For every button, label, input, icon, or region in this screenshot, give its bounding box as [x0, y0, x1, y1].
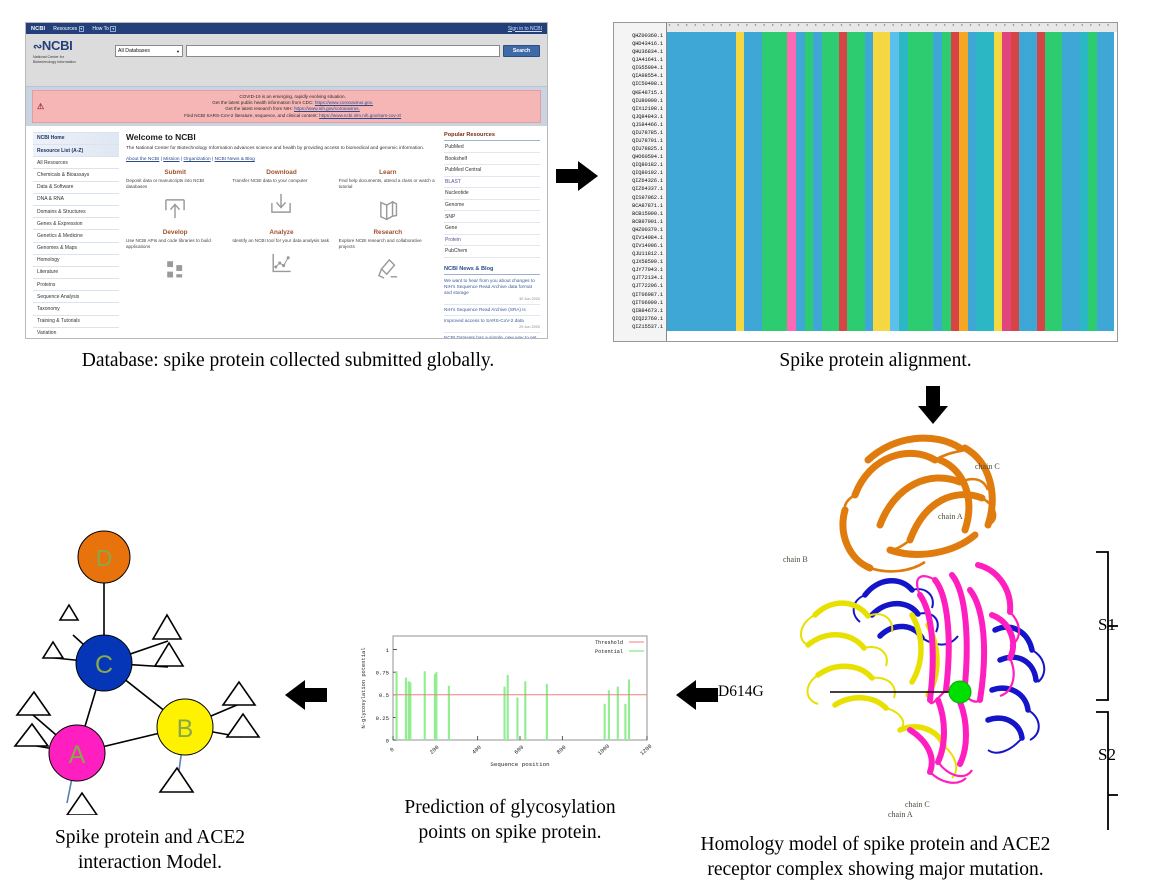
- residue-cell: [727, 153, 736, 161]
- residue-cell: [1037, 145, 1046, 153]
- residue-cell: [847, 282, 856, 290]
- residue-cell: [813, 72, 822, 80]
- residue-cell: [1028, 48, 1037, 56]
- accession-id[interactable]: QHU36834.1: [614, 48, 666, 56]
- residue-cell: [1105, 250, 1114, 258]
- sidebar-item-genetics-medicine[interactable]: Genetics & Medicine: [33, 230, 119, 242]
- resource-link-gene[interactable]: Gene: [444, 223, 540, 235]
- sign-in-link[interactable]: Sign in to NCBI: [508, 26, 542, 32]
- ruler-tick: *: [780, 24, 783, 30]
- residue-cell: [684, 250, 693, 258]
- accession-id[interactable]: BCB97901.1: [614, 218, 666, 226]
- resource-link-blast[interactable]: BLAST: [444, 177, 540, 189]
- ncbi-masthead: ∾NCBI National Center forBiotechnology I…: [26, 34, 547, 87]
- residue-cell: [1080, 282, 1089, 290]
- triangle-icon: [60, 605, 78, 620]
- residue-cell: [719, 258, 728, 266]
- residue-cell: [736, 202, 745, 210]
- accession-id[interactable]: QIQ22760.1: [614, 315, 666, 323]
- residue-cell: [856, 177, 865, 185]
- sidebar-item-literature[interactable]: Literature: [33, 267, 119, 279]
- cdc-link[interactable]: https://www.coronavirus.gov.: [315, 100, 373, 105]
- residue-cell: [1037, 258, 1046, 266]
- residue-cell: [985, 121, 994, 129]
- accession-id[interactable]: QHO60594.1: [614, 153, 666, 161]
- residue-cell: [968, 234, 977, 242]
- residue-cell: [908, 307, 917, 315]
- residue-cell: [925, 97, 934, 105]
- residue-cell: [916, 299, 925, 307]
- residue-cell: [968, 323, 977, 331]
- residue-cell: [787, 274, 796, 282]
- residue-cell: [1045, 202, 1054, 210]
- accession-id[interactable]: QIT06999.1: [614, 299, 666, 307]
- residue-cell: [736, 226, 745, 234]
- residue-cell: [1037, 323, 1046, 331]
- residue-cell: [684, 137, 693, 145]
- accession-id[interactable]: QHZ00369.1: [614, 32, 666, 40]
- residue-cell: [736, 40, 745, 48]
- residue-cell: [1105, 266, 1114, 274]
- sidebar-item-dna-rna[interactable]: DNA & RNA: [33, 194, 119, 206]
- residue-cell: [951, 194, 960, 202]
- sidebar-item-variation[interactable]: Variation: [33, 328, 119, 339]
- residue-cell: [1037, 282, 1046, 290]
- residue-cell: [856, 161, 865, 169]
- tile-research[interactable]: ResearchExplore NCBI research and collab…: [339, 229, 437, 284]
- residue-cell: [1080, 80, 1089, 88]
- sidebar-item-domains-structures[interactable]: Domains & Structures: [33, 206, 119, 218]
- residue-cell: [693, 242, 702, 250]
- residue-cell: [1088, 250, 1097, 258]
- accession-id[interactable]: QHZ00379.1: [614, 226, 666, 234]
- residue-cell: [925, 234, 934, 242]
- residue-cell: [667, 210, 676, 218]
- residue-cell: [727, 226, 736, 234]
- residue-cell: [968, 56, 977, 64]
- residue-cell: [1019, 210, 1028, 218]
- accession-id[interactable]: QIV14996.1: [614, 242, 666, 250]
- residue-cell: [890, 234, 899, 242]
- residue-cell: [744, 121, 753, 129]
- accession-id[interactable]: QIU80900.1: [614, 97, 666, 105]
- residue-cell: [1019, 161, 1028, 169]
- residue-cell: [1019, 226, 1028, 234]
- residue-cell: [890, 137, 899, 145]
- residue-cell: [1054, 202, 1063, 210]
- menu-how-to[interactable]: How To ▾: [92, 26, 116, 32]
- residue-cell: [865, 323, 874, 331]
- accession-id[interactable]: QIV14984.1: [614, 234, 666, 242]
- sidebar-item-training-tutorials[interactable]: Training & Tutorials: [33, 316, 119, 328]
- residue-cell: [847, 72, 856, 80]
- residue-cell: [933, 323, 942, 331]
- residue-cell: [882, 40, 891, 48]
- accession-id[interactable]: QJA41641.1: [614, 56, 666, 64]
- accession-id[interactable]: QJT72206.1: [614, 282, 666, 290]
- sars-cov-2-link[interactable]: https://www.ncbi.nlm.nih.gov/sars-cov-2/: [319, 113, 401, 118]
- residue-cell: [847, 250, 856, 258]
- residue-cell: [1011, 137, 1020, 145]
- residue-cell: [847, 202, 856, 210]
- accession-id[interactable]: QHD43416.1: [614, 40, 666, 48]
- residue-cell: [830, 274, 839, 282]
- residue-cell: [890, 72, 899, 80]
- residue-cell: [933, 234, 942, 242]
- residue-cell: [865, 137, 874, 145]
- ruler-tick: *: [1055, 24, 1058, 30]
- tile-submit[interactable]: SubmitDeposit data or manuscripts into N…: [126, 169, 224, 224]
- residue-cell: [856, 315, 865, 323]
- residue-cell: [856, 64, 865, 72]
- residue-cell: [693, 226, 702, 234]
- residue-cell: [1071, 113, 1080, 121]
- residue-cell: [916, 291, 925, 299]
- residue-cell: [822, 323, 831, 331]
- accession-id[interactable]: QIT06987.1: [614, 291, 666, 299]
- sidebar-item-sequence-analysis[interactable]: Sequence Analysis: [33, 291, 119, 303]
- ncbi-brand-block[interactable]: ∾NCBI National Center forBiotechnology I…: [33, 39, 115, 64]
- residue-cell: [830, 242, 839, 250]
- residue-cell: [942, 266, 951, 274]
- residue-cell: [865, 185, 874, 193]
- residue-cell: [822, 97, 831, 105]
- alignment-row: [667, 202, 1117, 210]
- residue-cell: [796, 153, 805, 161]
- residue-cell: [822, 266, 831, 274]
- residue-cell: [710, 80, 719, 88]
- accession-id[interactable]: QIA98554.1: [614, 72, 666, 80]
- sidebar-item-proteins[interactable]: Proteins: [33, 279, 119, 291]
- resource-link-protein[interactable]: Protein: [444, 235, 540, 247]
- alignment-row: [667, 242, 1117, 250]
- residue-cell: [736, 218, 745, 226]
- resource-link-bookshelf[interactable]: Bookshelf: [444, 153, 540, 165]
- residue-cell: [1062, 113, 1071, 121]
- residue-cell: [951, 226, 960, 234]
- residue-cell: [684, 89, 693, 97]
- residue-cell: [693, 266, 702, 274]
- residue-cell: [676, 234, 685, 242]
- alignment-sequence-area[interactable]: ****************************************…: [667, 23, 1117, 341]
- residue-cell: [1071, 129, 1080, 137]
- accession-id[interactable]: BCB15090.1: [614, 210, 666, 218]
- residue-cell: [1054, 121, 1063, 129]
- news-item[interactable]: NIH's Sequence Read Archive (SRA) is: [444, 307, 540, 316]
- residue-cell: [1062, 250, 1071, 258]
- accession-id[interactable]: QIQ80182.1: [614, 161, 666, 169]
- residue-cell: [727, 185, 736, 193]
- residue-cell: [968, 282, 977, 290]
- residue-cell: [667, 323, 676, 331]
- residue-cell: [968, 64, 977, 72]
- accession-id[interactable]: QJQ84843.1: [614, 113, 666, 121]
- alignment-rows: [667, 32, 1117, 331]
- residue-cell: [865, 89, 874, 97]
- residue-cell: [1062, 129, 1071, 137]
- residue-cell: [822, 40, 831, 48]
- news-item[interactable]: NCBI Datasets has a simple, new way to g…: [444, 335, 540, 339]
- residue-cell: [770, 274, 779, 282]
- accession-id[interactable]: QJU11812.1: [614, 250, 666, 258]
- residue-cell: [813, 80, 822, 88]
- residue-cell: [1080, 218, 1089, 226]
- accession-id[interactable]: QIB84673.1: [614, 307, 666, 315]
- residue-cell: [1002, 282, 1011, 290]
- residue-cell: [822, 64, 831, 72]
- about-link-organization[interactable]: Organization: [183, 157, 210, 162]
- alignment-row: [667, 282, 1117, 290]
- residue-cell: [1045, 185, 1054, 193]
- residue-cell: [701, 48, 710, 56]
- tile-download[interactable]: DownloadTransfer NCBI data to your compu…: [232, 169, 330, 224]
- residue-cell: [744, 105, 753, 113]
- residue-cell: [899, 258, 908, 266]
- alignment-row: [667, 48, 1117, 56]
- residue-cell: [865, 56, 874, 64]
- residue-cell: [1080, 234, 1089, 242]
- residue-cell: [985, 299, 994, 307]
- residue-cell: [942, 89, 951, 97]
- residue-cell: [676, 56, 685, 64]
- residue-cell: [1019, 202, 1028, 210]
- residue-cell: [899, 32, 908, 40]
- residue-cell: [727, 121, 736, 129]
- tile-learn[interactable]: LearnFind help documents, attend a class…: [339, 169, 437, 224]
- residue-cell: [753, 299, 762, 307]
- tile-learn-desc: Find help documents, attend a class or w…: [339, 178, 437, 190]
- residue-cell: [1011, 153, 1020, 161]
- residue-cell: [830, 113, 839, 121]
- sidebar-item-resource-list-a-z[interactable]: Resource List (A-Z): [33, 145, 119, 157]
- accession-id[interactable]: QIU78791.1: [614, 137, 666, 145]
- accession-id[interactable]: QIQ80192.1: [614, 169, 666, 177]
- residue-cell: [667, 32, 676, 40]
- residue-cell: [994, 242, 1003, 250]
- residue-cell: [753, 258, 762, 266]
- residue-cell: [839, 323, 848, 331]
- residue-cell: [908, 129, 917, 137]
- accession-id[interactable]: QKE48715.1: [614, 89, 666, 97]
- residue-cell: [701, 64, 710, 72]
- sidebar-item-all-resources[interactable]: All Resources: [33, 157, 119, 169]
- residue-cell: [693, 282, 702, 290]
- residue-cell: [762, 250, 771, 258]
- search-button[interactable]: Search: [503, 45, 540, 57]
- accession-id[interactable]: QIU78785.1: [614, 129, 666, 137]
- residue-cell: [813, 194, 822, 202]
- residue-cell: [933, 210, 942, 218]
- sidebar-item-chemicals-bioassays[interactable]: Chemicals & Bioassays: [33, 169, 119, 181]
- residue-cell: [1062, 315, 1071, 323]
- residue-cell: [916, 202, 925, 210]
- residue-cell: [908, 202, 917, 210]
- accession-id[interactable]: QJX58599.1: [614, 258, 666, 266]
- sidebar-item-taxonomy[interactable]: Taxonomy: [33, 303, 119, 315]
- accession-id[interactable]: QIZ15537.1: [614, 323, 666, 331]
- accession-id[interactable]: QIU78825.1: [614, 145, 666, 153]
- residue-cell: [1037, 121, 1046, 129]
- tile-develop[interactable]: DevelopUse NCBI APIs and code libraries …: [126, 229, 224, 284]
- about-link-ncbi-news-blog[interactable]: NCBI News & Blog: [215, 157, 255, 162]
- caption-alignment: Spike protein alignment.: [600, 348, 1151, 373]
- residue-cell: [1011, 72, 1020, 80]
- accession-id[interactable]: QIS97062.1: [614, 194, 666, 202]
- residue-cell: [744, 97, 753, 105]
- sidebar-item-ncbi-home[interactable]: NCBI Home: [33, 132, 119, 145]
- residue-cell: [1088, 315, 1097, 323]
- residue-cell: [787, 194, 796, 202]
- residue-cell: [710, 291, 719, 299]
- residue-cell: [1002, 89, 1011, 97]
- residue-cell: [684, 282, 693, 290]
- residue-cell: [710, 250, 719, 258]
- residue-cell: [787, 72, 796, 80]
- residue-cell: [890, 202, 899, 210]
- residue-cell: [1045, 161, 1054, 169]
- residue-cell: [1080, 315, 1089, 323]
- residue-cell: [839, 80, 848, 88]
- resource-link-snp[interactable]: SNP: [444, 211, 540, 223]
- residue-cell: [882, 234, 891, 242]
- mutation-marker-d614g[interactable]: [949, 681, 971, 703]
- about-link-mission[interactable]: Mission: [163, 157, 179, 162]
- residue-cell: [839, 242, 848, 250]
- resource-link-pubmed[interactable]: PubMed: [444, 142, 540, 154]
- residue-cell: [1037, 32, 1046, 40]
- accession-id[interactable]: BCA87871.1: [614, 202, 666, 210]
- search-input[interactable]: [186, 45, 500, 57]
- residue-cell: [762, 315, 771, 323]
- residue-cell: [856, 48, 865, 56]
- residue-cell: [1011, 97, 1020, 105]
- resource-link-nucleotide[interactable]: Nucleotide: [444, 188, 540, 200]
- accession-id[interactable]: QIZ64326.1: [614, 177, 666, 185]
- residue-cell: [1054, 80, 1063, 88]
- resource-link-genome[interactable]: Genome: [444, 200, 540, 212]
- residue-cell: [847, 291, 856, 299]
- news-item[interactable]: We want to hear from you about changes t…: [444, 278, 540, 305]
- residue-cell: [1088, 299, 1097, 307]
- accession-id[interactable]: QJT72134.1: [614, 274, 666, 282]
- residue-cell: [1037, 210, 1046, 218]
- about-link-about-the-ncbi[interactable]: About the NCBI: [126, 157, 159, 162]
- accession-id[interactable]: QJS84466.1: [614, 121, 666, 129]
- residue-cell: [933, 185, 942, 193]
- ruler-tick: *: [771, 24, 774, 30]
- accession-id[interactable]: QIG55994.1: [614, 64, 666, 72]
- residue-cell: [779, 315, 788, 323]
- residue-cell: [976, 161, 985, 169]
- ruler-tick: *: [892, 24, 895, 30]
- residue-cell: [727, 64, 736, 72]
- residue-cell: [667, 282, 676, 290]
- accession-id[interactable]: QJY77043.1: [614, 266, 666, 274]
- nih-link[interactable]: https://www.nih.gov/coronavirus.: [294, 106, 360, 111]
- residue-cell: [1062, 291, 1071, 299]
- residue-cell: [976, 226, 985, 234]
- residue-cell: [890, 121, 899, 129]
- residue-cell: [701, 113, 710, 121]
- residue-cell: [1097, 282, 1106, 290]
- residue-cell: [727, 315, 736, 323]
- residue-cell: [1028, 291, 1037, 299]
- accession-id[interactable]: QIZ64337.1: [614, 185, 666, 193]
- sidebar-item-homology[interactable]: Homology: [33, 255, 119, 267]
- residue-cell: [1054, 274, 1063, 282]
- residue-cell: [882, 299, 891, 307]
- residue-cell: [925, 185, 934, 193]
- residue-cell: [676, 177, 685, 185]
- residue-cell: [968, 121, 977, 129]
- residue-cell: [985, 307, 994, 315]
- residue-cell: [684, 258, 693, 266]
- sidebar-item-genomes-maps[interactable]: Genomes & Maps: [33, 243, 119, 255]
- residue-cell: [753, 56, 762, 64]
- residue-cell: [1028, 169, 1037, 177]
- residue-cell: [1054, 307, 1063, 315]
- residue-cell: [701, 80, 710, 88]
- sidebar-item-genes-expression[interactable]: Genes & Expression: [33, 218, 119, 230]
- accession-id[interactable]: QIX12198.1: [614, 105, 666, 113]
- residue-cell: [727, 274, 736, 282]
- residue-cell: [847, 121, 856, 129]
- residue-cell: [968, 307, 977, 315]
- residue-cell: [916, 274, 925, 282]
- residue-cell: [839, 299, 848, 307]
- residue-cell: [805, 80, 814, 88]
- menu-resources[interactable]: Resources ▾: [53, 26, 84, 32]
- residue-cell: [942, 129, 951, 137]
- residue-cell: [994, 234, 1003, 242]
- residue-cell: [1019, 105, 1028, 113]
- resource-link-pubmed-central[interactable]: PubMed Central: [444, 165, 540, 177]
- residue-cell: [1002, 169, 1011, 177]
- residue-cell: [865, 145, 874, 153]
- residue-cell: [813, 121, 822, 129]
- residue-cell: [908, 291, 917, 299]
- tile-analyze[interactable]: AnalyzeIdentify an NCBI tool for your da…: [232, 229, 330, 284]
- database-select[interactable]: All Databases▼: [115, 45, 183, 57]
- ncbi-topbar-logo[interactable]: NCBI: [31, 26, 45, 32]
- residue-cell: [719, 299, 728, 307]
- residue-cell: [899, 40, 908, 48]
- residue-cell: [994, 250, 1003, 258]
- residue-cell: [1011, 105, 1020, 113]
- residue-cell: [865, 64, 874, 72]
- alignment-row: [667, 218, 1117, 226]
- residue-cell: [676, 323, 685, 331]
- residue-cell: [796, 242, 805, 250]
- resource-link-pubchem[interactable]: PubChem: [444, 246, 540, 258]
- residue-cell: [744, 250, 753, 258]
- residue-cell: [1054, 137, 1063, 145]
- news-item[interactable]: Improved access to SARS-CoV-2 data29 Jun…: [444, 318, 540, 333]
- residue-cell: [727, 40, 736, 48]
- residue-cell: [762, 129, 771, 137]
- residue-cell: [890, 145, 899, 153]
- residue-cell: [968, 266, 977, 274]
- accession-id[interactable]: QIC50498.1: [614, 80, 666, 88]
- residue-cell: [1105, 291, 1114, 299]
- residue-cell: [701, 307, 710, 315]
- residue-cell: [822, 56, 831, 64]
- residue-cell: [1062, 185, 1071, 193]
- residue-cell: [779, 194, 788, 202]
- residue-cell: [1011, 113, 1020, 121]
- sidebar-item-data-software[interactable]: Data & Software: [33, 182, 119, 194]
- residue-cell: [882, 32, 891, 40]
